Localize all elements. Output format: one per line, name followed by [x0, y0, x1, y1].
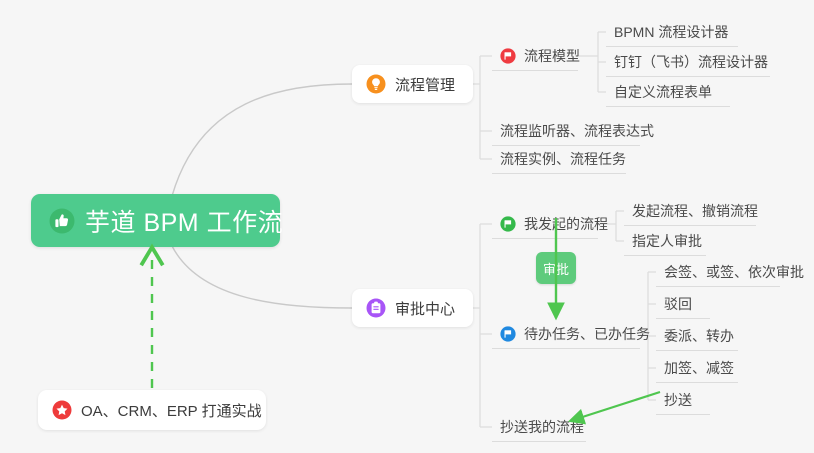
flag-red-icon [500, 48, 516, 64]
node-custom-form-label: 自定义流程表单 [614, 82, 712, 102]
node-liucheng-moxing[interactable]: 流程模型 [492, 42, 578, 71]
node-reject-label: 驳回 [664, 294, 692, 314]
lightbulb-icon [366, 74, 386, 94]
root-label: 芋道 BPM 工作流 [85, 203, 283, 239]
clipboard-purple-icon [366, 298, 386, 318]
node-listener-expression-label: 流程监听器、流程表达式 [500, 121, 654, 141]
node-shenpi-zhongxin[interactable]: 审批中心 [352, 289, 473, 327]
mindmap-canvas: 芋道 BPM 工作流 流程管理 流程模型 BPMN 流程设计器 钉钉（飞书）流程 [0, 0, 814, 453]
node-cc-label: 抄送 [664, 390, 692, 410]
star-red-icon [52, 400, 72, 420]
thumbs-up-icon [49, 208, 75, 234]
node-instance-task[interactable]: 流程实例、流程任务 [492, 145, 626, 174]
node-delegate-transfer-label: 委派、转办 [664, 326, 734, 346]
approve-badge-label: 审批 [543, 259, 569, 278]
node-liucheng-moxing-label: 流程模型 [524, 46, 580, 66]
node-custom-form[interactable]: 自定义流程表单 [606, 78, 730, 107]
node-liucheng-guanli[interactable]: 流程管理 [352, 65, 473, 103]
node-cc-to-me[interactable]: 抄送我的流程 [492, 413, 586, 442]
node-assignee-approve[interactable]: 指定人审批 [624, 227, 706, 256]
node-shenpi-zhongxin-label: 审批中心 [395, 298, 455, 319]
bottom-callout-card[interactable]: OA、CRM、ERP 打通实战 [38, 390, 266, 430]
node-cc[interactable]: 抄送 [656, 386, 710, 415]
node-liucheng-guanli-label: 流程管理 [395, 74, 455, 95]
node-bpmn-designer[interactable]: BPMN 流程设计器 [606, 18, 738, 47]
node-delegate-transfer[interactable]: 委派、转办 [656, 322, 738, 351]
node-multi-sign[interactable]: 会签、或签、依次审批 [656, 258, 780, 287]
flag-green-icon [500, 216, 516, 232]
node-todo-done[interactable]: 待办任务、已办任务 [492, 320, 640, 349]
edge-root-to-liucheng-guanli [172, 84, 352, 196]
node-todo-done-label: 待办任务、已办任务 [524, 324, 650, 344]
node-cc-to-me-label: 抄送我的流程 [500, 417, 584, 437]
edge-root-to-shenpi-zhongxin [172, 246, 352, 308]
node-my-initiated[interactable]: 我发起的流程 [492, 210, 598, 239]
node-my-initiated-label: 我发起的流程 [524, 214, 608, 234]
node-start-cancel-label: 发起流程、撤销流程 [632, 201, 758, 221]
root-node[interactable]: 芋道 BPM 工作流 [31, 194, 280, 247]
node-bpmn-designer-label: BPMN 流程设计器 [614, 22, 728, 42]
node-start-cancel[interactable]: 发起流程、撤销流程 [624, 197, 756, 226]
node-add-remove-sign[interactable]: 加签、减签 [656, 354, 738, 383]
flag-blue-icon [500, 326, 516, 342]
node-reject[interactable]: 驳回 [656, 290, 710, 319]
node-multi-sign-label: 会签、或签、依次审批 [664, 262, 804, 282]
node-instance-task-label: 流程实例、流程任务 [500, 149, 626, 169]
node-dingtalk-designer-label: 钉钉（飞书）流程设计器 [614, 52, 768, 72]
node-assignee-approve-label: 指定人审批 [632, 231, 702, 251]
node-listener-expression[interactable]: 流程监听器、流程表达式 [492, 117, 640, 146]
node-dingtalk-designer[interactable]: 钉钉（飞书）流程设计器 [606, 48, 770, 77]
approve-badge[interactable]: 审批 [536, 252, 576, 284]
bottom-callout-label: OA、CRM、ERP 打通实战 [81, 400, 262, 421]
node-add-remove-sign-label: 加签、减签 [664, 358, 734, 378]
